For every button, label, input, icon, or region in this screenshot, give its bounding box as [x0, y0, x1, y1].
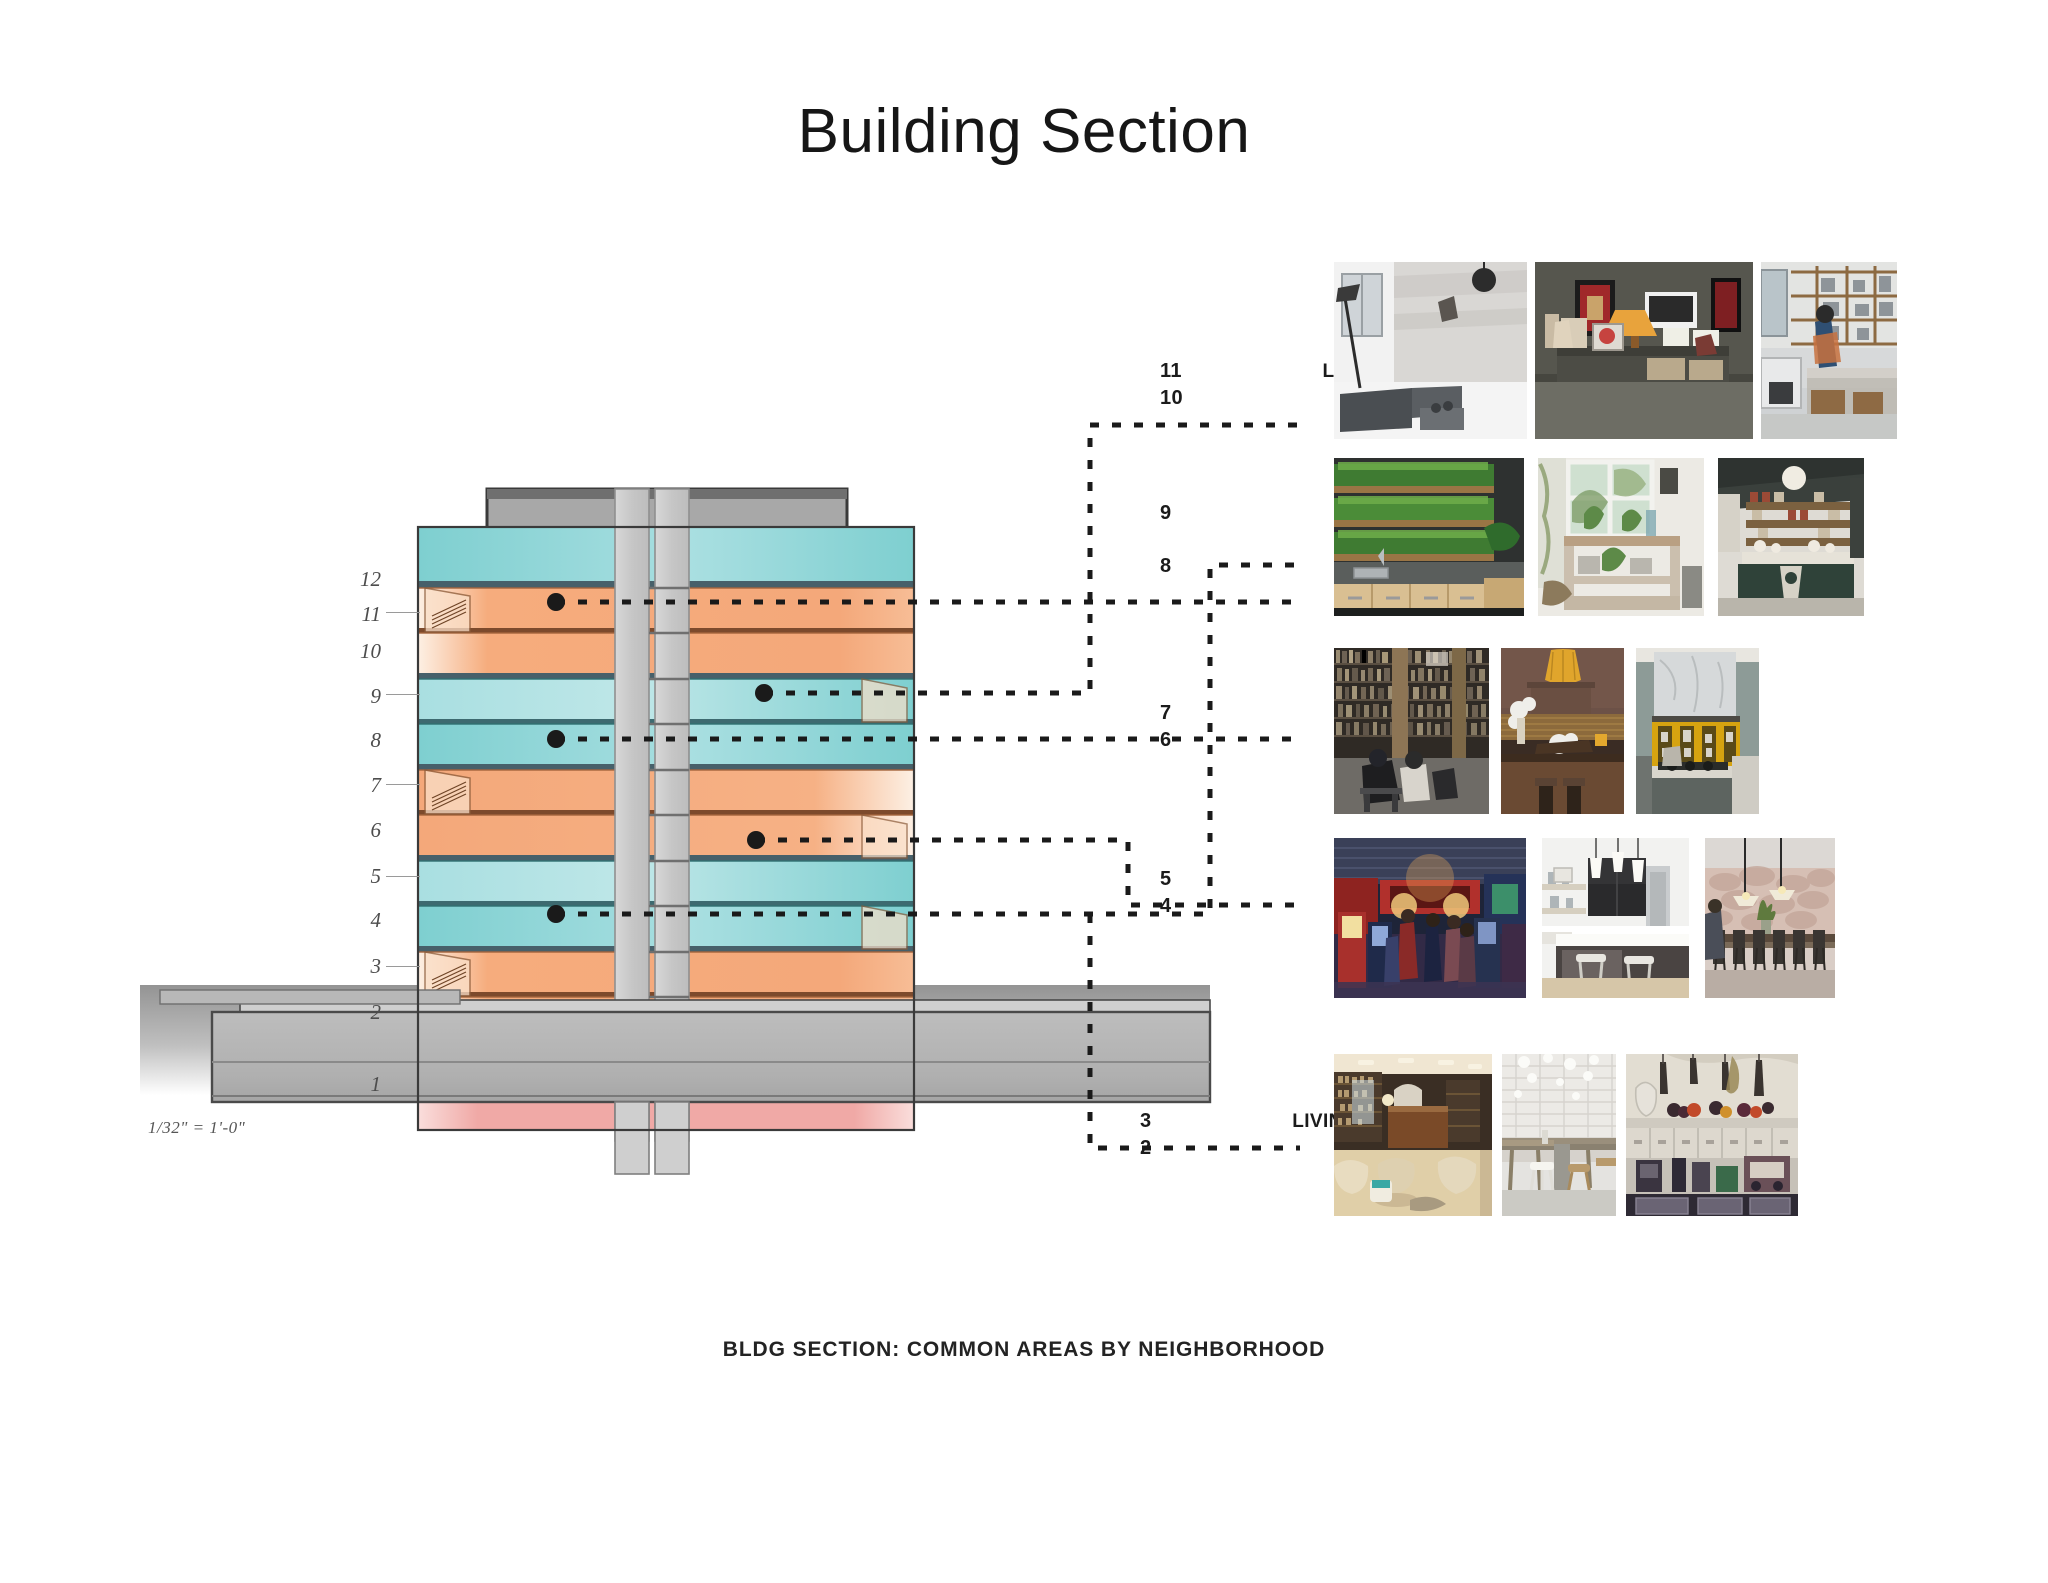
espresso-bar-counter-photo[interactable] [1626, 1054, 1798, 1216]
callout-number: 11 [1160, 358, 1192, 385]
callout-dot-floor-9 [755, 684, 773, 702]
photo-row-library-kitchen [1334, 648, 1759, 814]
floor-number-4: 4 [333, 910, 381, 931]
callout-number: 9 [1160, 500, 1182, 527]
bottom-caption: BLDG SECTION: COMMON AREAS BY NEIGHBORHO… [0, 1338, 2048, 1362]
industrial-kitchen-photo[interactable] [1761, 262, 1897, 439]
photo-row-arcade-kitchen [1334, 838, 1835, 998]
floor-number-10: 10 [333, 641, 381, 662]
floor-number-5: 5 [333, 866, 381, 887]
callout-dot-floor-2 [547, 905, 565, 923]
floor-tick-9 [386, 694, 420, 695]
lounge-armchairs-photo[interactable] [1334, 1054, 1492, 1216]
arcade-game-room-photo[interactable] [1334, 838, 1526, 998]
floor-number-7: 7 [333, 775, 381, 796]
callout-dot-floor-11 [547, 593, 565, 611]
floor-number-12: 12 [333, 569, 381, 590]
callout-number: 6 [1160, 727, 1182, 754]
subway-tile-dining-photo[interactable] [1502, 1054, 1616, 1216]
callout-number: 3 [1140, 1108, 1162, 1135]
loft-living-room-photo[interactable] [1334, 262, 1527, 439]
communal-dining-table-photo[interactable] [1705, 838, 1835, 998]
scale-note: 1/32" = 1'-0" [148, 1118, 245, 1138]
herb-wall-kitchen-photo[interactable] [1334, 458, 1524, 616]
callout-number: 4 [1160, 893, 1182, 920]
library-bookshelves-photo[interactable] [1334, 648, 1489, 814]
floor-number-9: 9 [333, 686, 381, 707]
dark-media-room-photo[interactable] [1535, 262, 1753, 439]
callout-number: 5 [1160, 866, 1182, 893]
floor-number-11: 11 [333, 604, 381, 625]
white-black-kitchen-stools-photo[interactable] [1542, 838, 1689, 998]
callout-number: 7 [1160, 700, 1182, 727]
floor-tick-11 [386, 612, 420, 613]
floor-tick-7 [386, 784, 420, 785]
yellow-marble-kitchen-photo[interactable] [1636, 648, 1759, 814]
dark-green-pantry-kitchen-photo[interactable] [1718, 458, 1864, 616]
floor-number-2: 2 [333, 1002, 381, 1023]
floor-number-1: 1 [333, 1074, 381, 1095]
callout-dot-floor-7 [547, 730, 565, 748]
potting-bench-window-photo[interactable] [1538, 458, 1704, 616]
callout-number: 2 [1140, 1135, 1162, 1162]
photo-row-herb-garden-kitchen [1334, 458, 1864, 616]
callout-dot-floor-4 [747, 831, 765, 849]
floor-tick-3 [386, 966, 420, 967]
floor-number-6: 6 [333, 820, 381, 841]
floor-tick-5 [386, 876, 420, 877]
photo-row-living-room-kitchen [1334, 1054, 1798, 1216]
floor-number-8: 8 [333, 730, 381, 751]
floor-number-3: 3 [333, 956, 381, 977]
copper-kitchen-pendant-photo[interactable] [1501, 648, 1624, 814]
callout-number: 10 [1160, 385, 1193, 412]
photo-row-living-rm-kitchen [1334, 262, 1897, 439]
slide-canvas: Building Section [0, 0, 2048, 1583]
callout-number: 8 [1160, 553, 1182, 580]
